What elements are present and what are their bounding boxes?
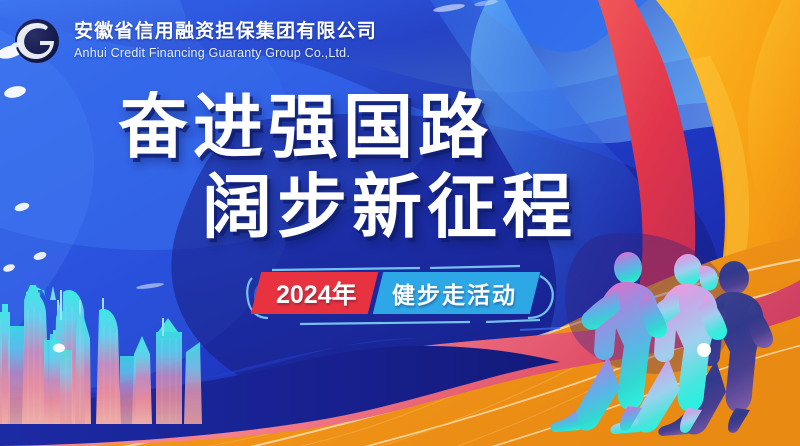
headline-line-1: 奋进强国路 [118, 92, 577, 162]
brand-header: 安徽省信用融资担保集团有限公司 Anhui Credit Financing G… [10, 14, 377, 68]
company-name-cn: 安徽省信用融资担保集团有限公司 [74, 22, 377, 41]
year-chip: 2024年 [251, 272, 378, 314]
company-name-en: Anhui Credit Financing Guaranty Group Co… [74, 47, 377, 60]
headline-block: 奋进强国路 阔步新征程 [118, 92, 577, 242]
headline-line-2: 阔步新征程 [202, 172, 577, 242]
event-label: 健步走活动 [392, 276, 517, 310]
poster-banner: 安徽省信用融资担保集团有限公司 Anhui Credit Financing G… [0, 0, 800, 446]
brand-text-block: 安徽省信用融资担保集团有限公司 Anhui Credit Financing G… [74, 22, 377, 60]
year-label: 2024年 [276, 275, 357, 311]
sub-banner: 2024年 健步走活动 [251, 272, 540, 314]
company-logo-icon [10, 14, 64, 68]
event-chip: 健步走活动 [372, 272, 539, 314]
